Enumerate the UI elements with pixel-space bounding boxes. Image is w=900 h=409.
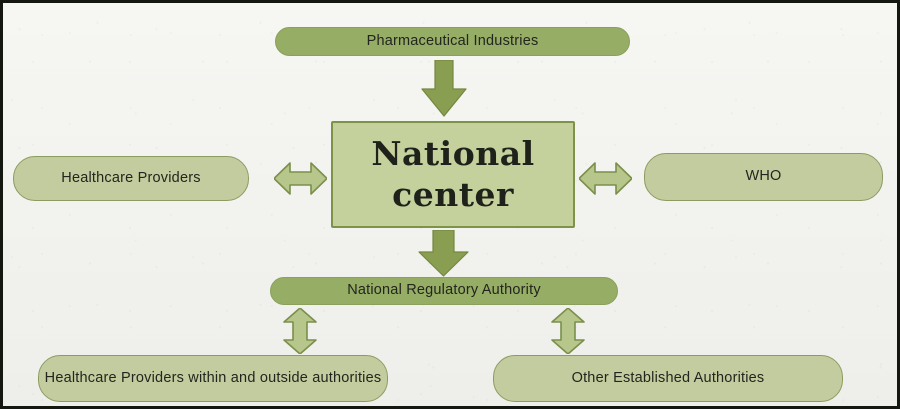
node-label: Healthcare Providers [61,170,200,188]
node-label-line1: National [371,134,534,174]
arrow-down-icon-center-to-nra [417,230,470,277]
arrow-left-right-icon-center-to-healthcare-providers [274,161,327,196]
node-label: WHO [745,168,781,186]
node-label: National Regulatory Authority [347,282,541,300]
arrow-down-icon-pharma-to-center [420,60,468,117]
node-national-regulatory-authority[interactable]: National Regulatory Authority [270,277,618,305]
node-who[interactable]: WHO [644,153,883,201]
node-healthcare-providers[interactable]: Healthcare Providers [13,156,249,201]
node-pharmaceutical-industries[interactable]: Pharmaceutical Industries [275,27,630,56]
node-label: Other Established Authorities [572,370,765,388]
node-healthcare-providers-within-outside[interactable]: Healthcare Providers within and outside … [38,355,388,402]
node-label-block: National center [371,134,534,215]
node-label-line2: authorities [312,370,381,386]
node-label-block: Healthcare Providers within and outside … [45,370,382,388]
arrow-left-right-icon-center-to-who [579,161,632,196]
arrow-up-down-icon-nra-to-other-established-authorities [550,308,586,354]
arrow-up-down-icon-nra-to-healthcare-providers-within-outside [282,308,318,354]
node-label: Pharmaceutical Industries [367,33,539,51]
node-label-line2: center [371,175,534,215]
diagram-canvas: Pharmaceutical Industries National cente… [0,0,900,409]
node-label-line1: Healthcare Providers within and outside [45,370,308,386]
node-other-established-authorities[interactable]: Other Established Authorities [493,355,843,402]
node-national-center[interactable]: National center [331,121,575,228]
